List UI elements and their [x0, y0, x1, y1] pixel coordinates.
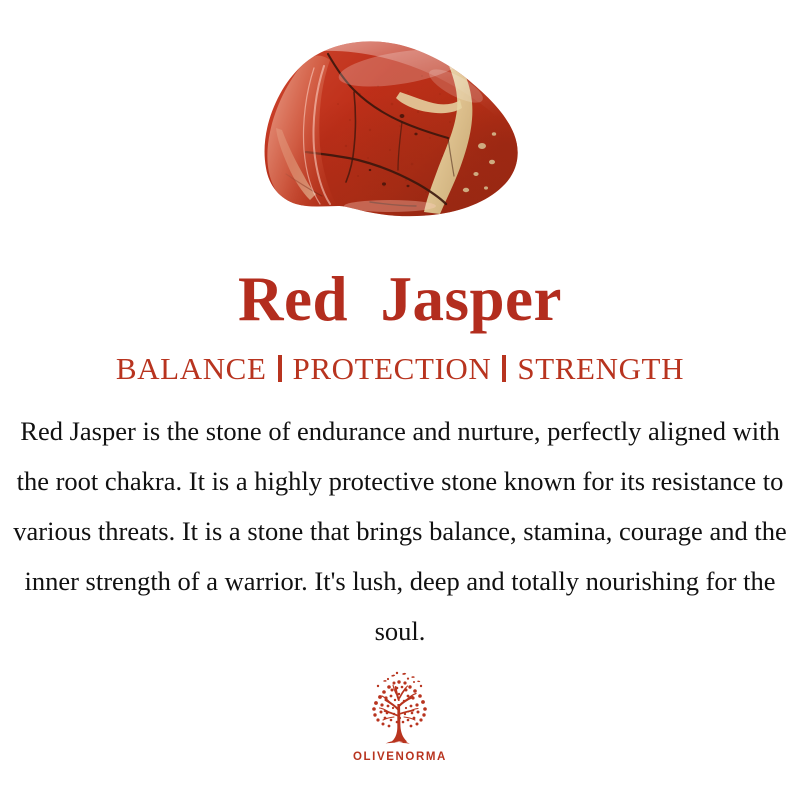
- tree-of-life-icon: [361, 670, 439, 750]
- description-text: Red Jasper is the stone of endurance and…: [5, 406, 795, 656]
- keyword-line: BALANCE PROTECTION STRENGTH: [116, 353, 684, 384]
- keyword-strength: STRENGTH: [517, 353, 684, 384]
- red-jasper-info-card: Red Jasper BALANCE PROTECTION STRENGTH R…: [0, 0, 800, 800]
- keyword-protection: PROTECTION: [293, 353, 492, 384]
- brand-wordmark: OLIVENORMA: [353, 751, 447, 763]
- product-image-container: [0, 0, 800, 268]
- brand-logo: OLIVENORMA: [353, 670, 447, 763]
- keyword-separator: [502, 355, 506, 382]
- red-jasper-tumbled-stone-image: [250, 34, 550, 234]
- keyword-balance: BALANCE: [116, 353, 267, 384]
- keyword-separator: [278, 355, 282, 382]
- page-title: Red Jasper: [238, 268, 562, 331]
